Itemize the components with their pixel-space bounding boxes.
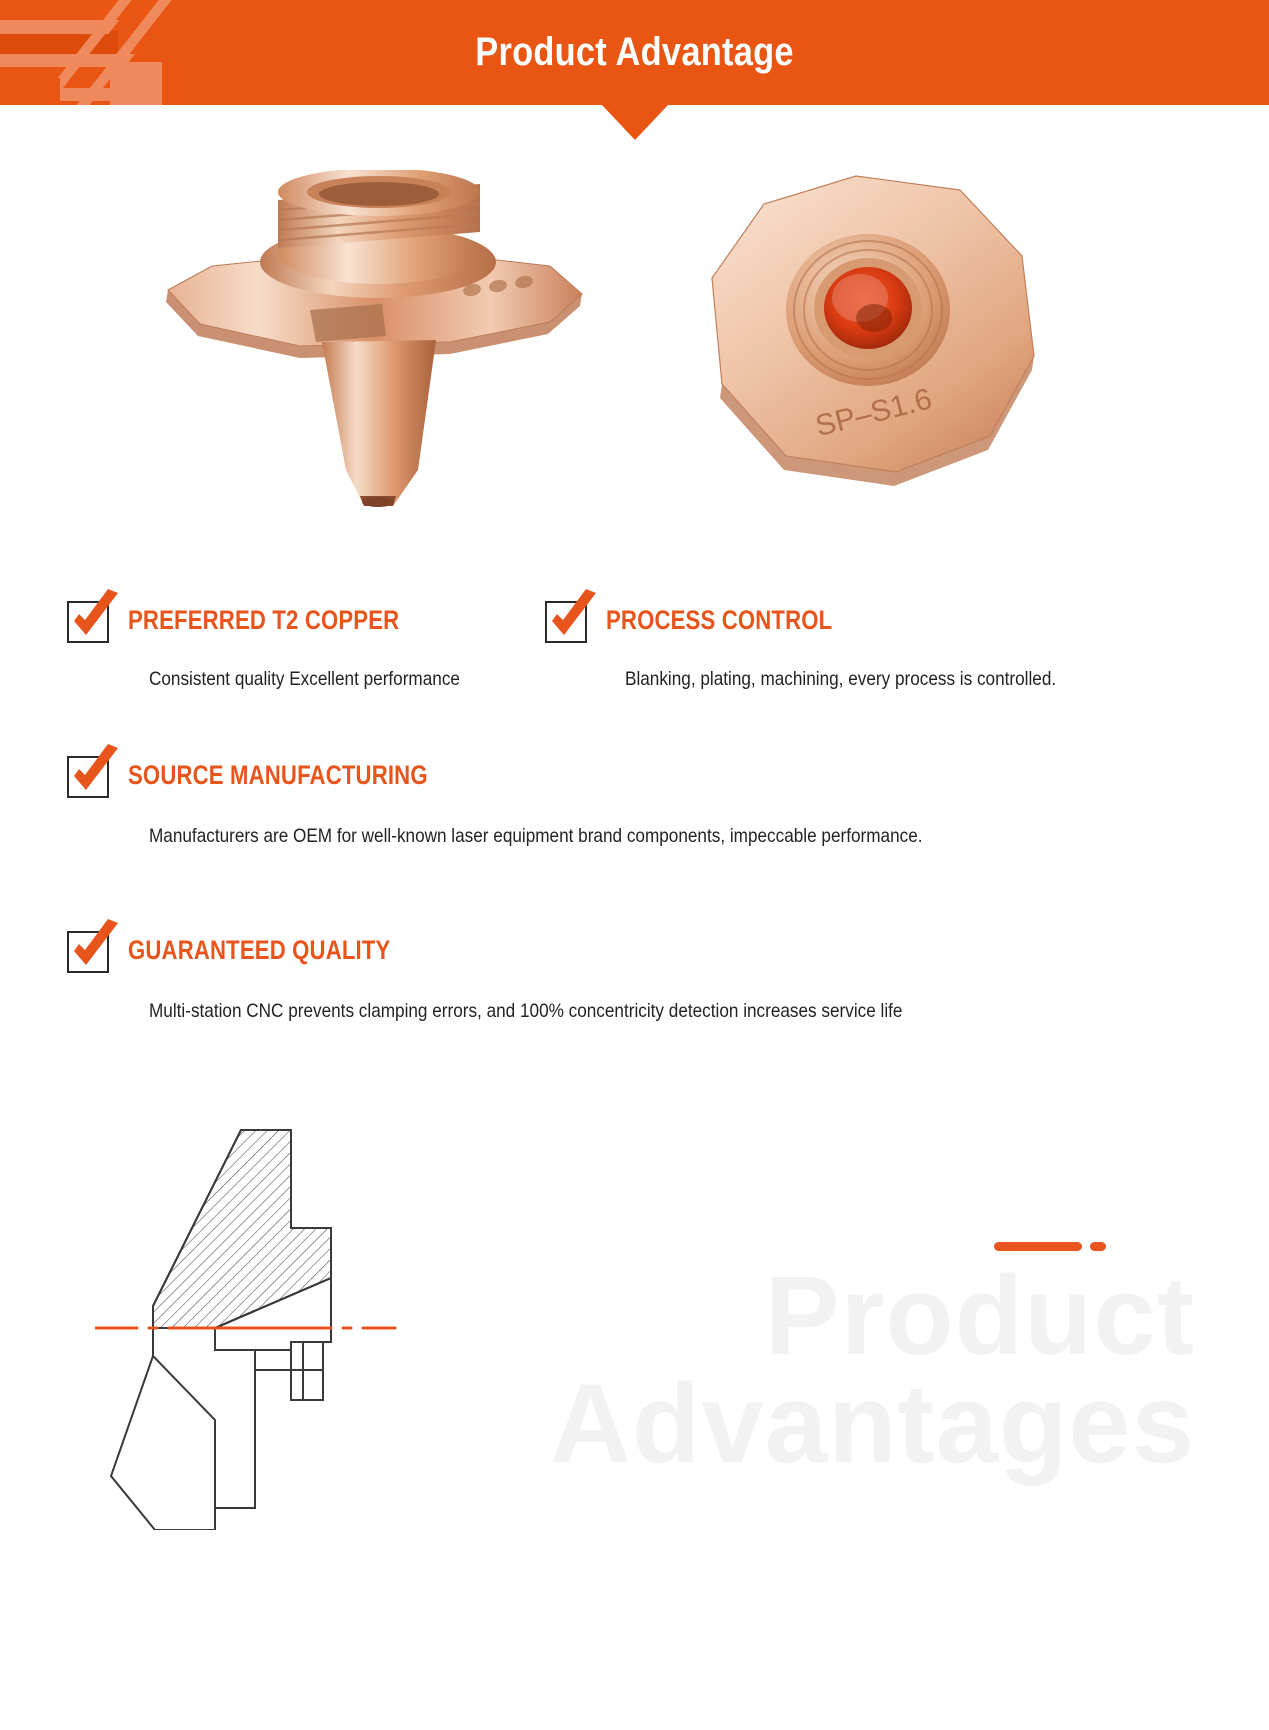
header-pointer-triangle	[602, 105, 668, 140]
watermark-line-2: Advantages	[550, 1368, 1195, 1480]
dash-dot-rule-icon	[994, 1242, 1106, 1251]
laser-nozzle-side-view	[150, 170, 610, 510]
feature-item-guaranteed-quality: GUARANTEED QUALITY Multi-station CNC pre…	[62, 925, 1005, 1024]
feature-title: PROCESS CONTROL	[606, 605, 832, 636]
feature-item-source-manufacturing: SOURCE MANUFACTURING Manufacturers are O…	[62, 750, 1028, 849]
feature-item-process-control: PROCESS CONTROL Blanking, plating, machi…	[540, 595, 1115, 692]
feature-description: Blanking, plating, machining, every proc…	[625, 667, 1056, 692]
product-photo-group: SP–S1.6	[0, 150, 1269, 550]
page-title: Product Advantage	[89, 0, 1180, 105]
laser-nozzle-top-view: SP–S1.6	[660, 160, 1080, 510]
watermark-line-1: Product	[765, 1260, 1195, 1372]
feature-description: Consistent quality Excellent performance	[149, 667, 460, 692]
feature-title: SOURCE MANUFACTURING	[128, 760, 428, 791]
feature-title: PREFERRED T2 COPPER	[128, 605, 399, 636]
nozzle-cross-section-drawing	[95, 1110, 575, 1530]
checkbox-checked-icon	[62, 925, 114, 975]
feature-description: Multi-station CNC prevents clamping erro…	[149, 999, 902, 1024]
feature-description: Manufacturers are OEM for well-known las…	[149, 824, 923, 849]
checkbox-checked-icon	[62, 595, 114, 645]
checkbox-checked-icon	[62, 750, 114, 800]
footer-section: Product Advantages	[0, 1090, 1269, 1730]
feature-item-preferred-t2-copper: PREFERRED T2 COPPER Consistent quality E…	[62, 595, 502, 692]
feature-title: GUARANTEED QUALITY	[128, 935, 390, 966]
feature-row-1: PREFERRED T2 COPPER Consistent quality E…	[0, 595, 1269, 715]
checkbox-checked-icon	[540, 595, 592, 645]
page-header: Product Advantage	[0, 0, 1269, 105]
